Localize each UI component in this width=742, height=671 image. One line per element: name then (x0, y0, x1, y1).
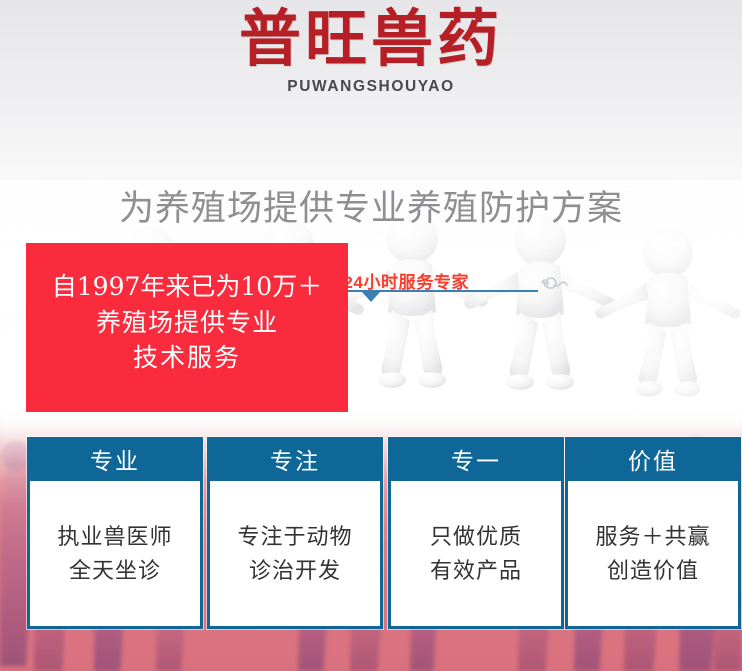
feature-card-focus[interactable]: 专注 专注于动物 诊治开发 (207, 437, 383, 629)
card-line-1: 只做优质 (430, 520, 522, 553)
brand-name-pinyin: PUWANGSHOUYAO (0, 78, 742, 96)
highlight-line-3: 技术服务 (26, 340, 348, 376)
card-line-1: 专注于动物 (237, 520, 352, 553)
headline: 为养殖场提供专业养殖防护方案 (0, 180, 742, 231)
down-triangle-icon (362, 292, 380, 302)
highlight-line-2: 养殖场提供专业 (26, 305, 348, 341)
card-title: 价值 (565, 437, 741, 481)
feature-cards: 专业 执业兽医师 全天坐诊 专注 专注于动物 诊治开发 专一 只做优质 有效产品… (0, 437, 742, 637)
brand-name-cn: 普旺兽药 (0, 6, 742, 73)
card-body: 只做优质 有效产品 (388, 481, 564, 629)
card-body: 专注于动物 诊治开发 (207, 481, 383, 629)
highlight-line-1: 自1997年来已为10万＋ (26, 269, 348, 305)
card-title: 专业 (27, 437, 203, 481)
card-title: 专一 (388, 437, 564, 481)
subtitle-bar: 您身边的24小时服务专家 (0, 132, 742, 172)
card-line-1: 服务＋共赢 (595, 520, 710, 553)
highlight-box: 自1997年来已为10万＋ 养殖场提供专业 技术服务 (26, 243, 348, 412)
brand-logo: 普旺兽药 PUWANGSHOUYAO (0, 6, 742, 96)
feature-card-value[interactable]: 价值 服务＋共赢 创造价值 (565, 437, 741, 629)
card-body: 服务＋共赢 创造价值 (565, 481, 741, 629)
card-line-2: 诊治开发 (249, 554, 341, 587)
feature-card-professional[interactable]: 专业 执业兽医师 全天坐诊 (27, 437, 203, 629)
card-line-2: 有效产品 (430, 554, 522, 587)
card-line-2: 全天坐诊 (69, 554, 161, 587)
card-line-1: 执业兽医师 (57, 520, 172, 553)
card-title: 专注 (207, 437, 383, 481)
poster-root: 普旺兽药 PUWANGSHOUYAO 您身边的24小时 (0, 0, 742, 671)
card-line-2: 创造价值 (607, 554, 699, 587)
card-body: 执业兽医师 全天坐诊 (27, 481, 203, 629)
feature-card-dedicated[interactable]: 专一 只做优质 有效产品 (388, 437, 564, 629)
